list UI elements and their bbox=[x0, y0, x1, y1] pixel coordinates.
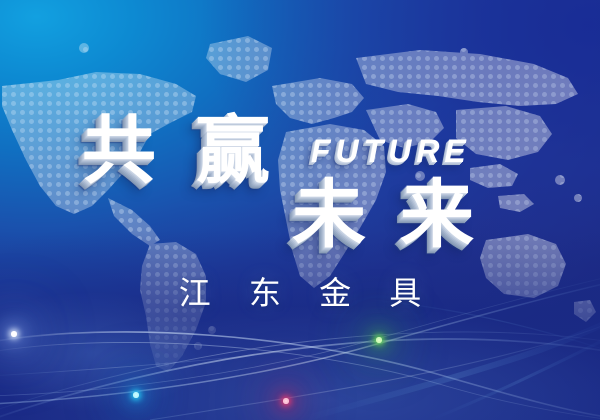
headline-char-lai: 来 bbox=[400, 178, 474, 252]
banner-content: 共 赢 FUTURE 未 来 江 东 金 具 bbox=[0, 0, 600, 420]
headline-char-gong: 共 bbox=[82, 114, 156, 188]
headline-char-wei: 未 bbox=[292, 178, 366, 252]
headline-char-ying: 赢 bbox=[196, 114, 270, 188]
promo-banner: 共 赢 FUTURE 未 来 江 东 金 具 bbox=[0, 0, 600, 420]
headline-english-future: FUTURE bbox=[311, 133, 471, 170]
company-name-subtitle: 江 东 金 具 bbox=[0, 268, 600, 314]
